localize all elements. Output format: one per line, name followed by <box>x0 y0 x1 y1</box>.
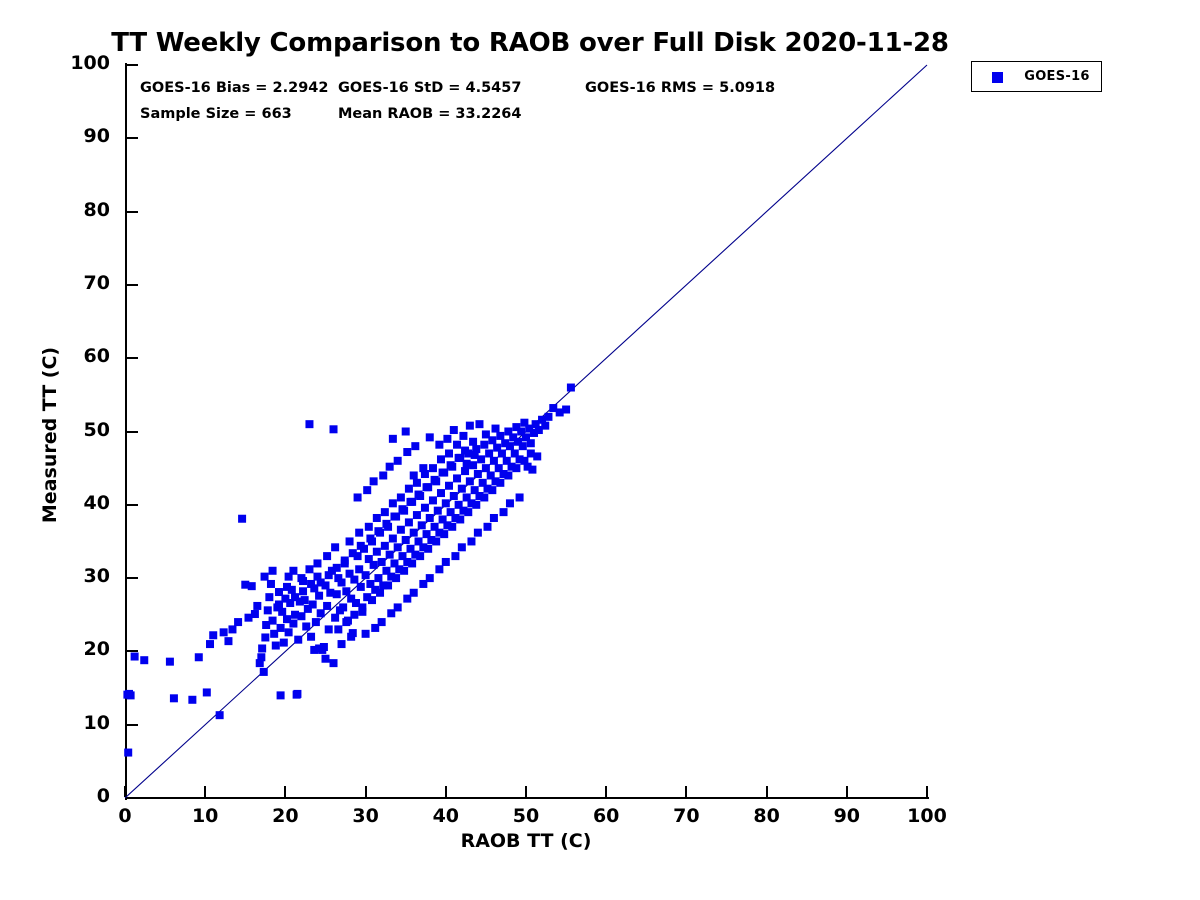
y-axis-tick-label: 80 <box>50 199 110 221</box>
x-axis-tick-label: 20 <box>255 805 315 827</box>
scatter-point <box>188 696 196 704</box>
scatter-point <box>490 514 498 522</box>
scatter-point <box>459 432 467 440</box>
scatter-point <box>293 690 301 698</box>
scatter-point <box>381 508 389 516</box>
scatter-point <box>334 625 342 633</box>
scatter-point <box>439 469 447 477</box>
x-axis-tick-label: 10 <box>175 805 235 827</box>
scatter-point <box>392 574 400 582</box>
scatter-point <box>527 449 535 457</box>
scatter-point <box>426 514 434 522</box>
scatter-point <box>421 504 429 512</box>
scatter-point <box>490 457 498 465</box>
scatter-point <box>315 644 323 652</box>
scatter-point <box>464 508 472 516</box>
scatter-point <box>166 658 174 666</box>
scatter-point <box>504 471 512 479</box>
scatter-point <box>289 567 297 575</box>
scatter-point <box>416 552 424 560</box>
scatter-point <box>394 543 402 551</box>
scatter-point <box>307 633 315 641</box>
scatter-point <box>347 633 355 641</box>
scatter-point <box>307 580 315 588</box>
scatter-point <box>480 441 488 449</box>
scatter-point <box>362 571 370 579</box>
x-axis-tick-label: 30 <box>336 805 396 827</box>
scatter-point <box>496 432 504 440</box>
chart-figure: TT Weekly Comparison to RAOB over Full D… <box>0 0 1200 900</box>
scatter-point <box>466 477 474 485</box>
scatter-point <box>140 656 148 664</box>
scatter-point <box>413 511 421 519</box>
scatter-point <box>331 614 339 622</box>
scatter-point <box>480 493 488 501</box>
scatter-point <box>492 425 500 433</box>
scatter-point <box>342 587 350 595</box>
scatter-point <box>440 530 448 538</box>
scatter-point <box>541 422 549 430</box>
scatter-point <box>413 479 421 487</box>
scatter-point <box>267 580 275 588</box>
scatter-point <box>520 457 528 465</box>
scatter-point <box>131 653 139 661</box>
scatter-point <box>358 603 366 611</box>
scatter-point <box>403 448 411 456</box>
scatter-point <box>283 583 291 591</box>
scatter-point <box>407 498 415 506</box>
scatter-point <box>386 463 394 471</box>
scatter-point <box>234 618 242 626</box>
scatter-point <box>402 428 410 436</box>
scatter-point <box>496 479 504 487</box>
scatter-point <box>386 551 394 559</box>
x-axis-tick-label: 90 <box>817 805 877 827</box>
scatter-point <box>203 688 211 696</box>
scatter-point <box>338 579 346 587</box>
scatter-point <box>429 464 437 472</box>
scatter-point <box>261 573 269 581</box>
scatter-point <box>269 617 277 625</box>
scatter-point <box>297 574 305 582</box>
scatter-point <box>373 514 381 522</box>
scatter-point <box>389 499 397 507</box>
scatter-point <box>442 499 450 507</box>
scatter-point <box>333 590 341 598</box>
scatter-point <box>474 470 482 478</box>
scatter-point <box>451 552 459 560</box>
scatter-point <box>445 482 453 490</box>
scatter-point <box>346 537 354 545</box>
legend-marker-goes-16 <box>992 72 1003 83</box>
scatter-point <box>432 537 440 545</box>
scatter-point <box>275 600 283 608</box>
scatter-point <box>472 501 480 509</box>
scatter-point <box>398 505 406 513</box>
scatter-plot-canvas <box>125 65 927 798</box>
scatter-point <box>394 457 402 465</box>
scatter-point <box>453 474 461 482</box>
scatter-point <box>331 543 339 551</box>
legend-box: GOES-16 <box>971 61 1102 92</box>
scatter-point <box>277 691 285 699</box>
scatter-point <box>374 527 382 535</box>
scatter-point <box>323 552 331 560</box>
scatter-point <box>206 640 214 648</box>
scatter-point <box>366 535 374 543</box>
scatter-point <box>426 574 434 582</box>
scatter-point <box>415 491 423 499</box>
scatter-point <box>170 694 178 702</box>
scatter-point <box>315 592 323 600</box>
scatter-point <box>458 485 466 493</box>
scatter-point <box>445 449 453 457</box>
scatter-point <box>305 565 313 573</box>
scatter-point <box>426 433 434 441</box>
scatter-point <box>423 483 431 491</box>
x-axis-tick-label: 50 <box>496 805 556 827</box>
scatter-point <box>265 593 273 601</box>
y-axis-label: Measured TT (C) <box>39 235 61 635</box>
scatter-point <box>567 384 575 392</box>
scatter-point <box>437 489 445 497</box>
scatter-point <box>301 596 309 604</box>
scatter-point <box>463 460 471 468</box>
scatter-point <box>482 464 490 472</box>
scatter-point <box>471 451 479 459</box>
scatter-point <box>397 526 405 534</box>
scatter-point <box>374 574 382 582</box>
scatter-point <box>261 633 269 641</box>
scatter-point <box>280 639 288 647</box>
y-axis-tick-label: 20 <box>50 638 110 660</box>
scatter-point <box>376 589 384 597</box>
scatter-point <box>365 523 373 531</box>
scatter-point <box>418 521 426 529</box>
scatter-point <box>257 653 265 661</box>
scatter-point <box>299 587 307 595</box>
scatter-point <box>389 435 397 443</box>
scatter-point <box>450 492 458 500</box>
scatter-point <box>285 628 293 636</box>
scatter-point <box>469 438 477 446</box>
scatter-point <box>397 493 405 501</box>
scatter-point <box>264 606 272 614</box>
scatter-point <box>519 442 527 450</box>
x-axis-tick-label: 60 <box>576 805 636 827</box>
scatter-point <box>322 655 330 663</box>
scatter-point <box>544 413 552 421</box>
scatter-point <box>297 612 305 620</box>
scatter-point <box>485 449 493 457</box>
scatter-point <box>238 515 246 523</box>
scatter-point <box>488 486 496 494</box>
scatter-point <box>411 442 419 450</box>
scatter-point <box>405 518 413 526</box>
scatter-point <box>317 579 325 587</box>
scatter-point <box>381 542 389 550</box>
scatter-point <box>461 467 469 475</box>
scatter-point <box>277 624 285 632</box>
scatter-point <box>421 470 429 478</box>
scatter-point <box>467 537 475 545</box>
legend-label-goes-16: GOES-16 <box>1017 69 1097 84</box>
scatter-point <box>474 529 482 537</box>
scatter-point <box>373 548 381 556</box>
scatter-point <box>458 543 466 551</box>
scatter-point <box>410 529 418 537</box>
scatter-point <box>424 545 432 553</box>
scatter-point <box>402 536 410 544</box>
scatter-point <box>370 561 378 569</box>
scatter-point <box>475 420 483 428</box>
scatter-point <box>350 576 358 584</box>
scatter-point <box>124 749 132 757</box>
scatter-point <box>330 659 338 667</box>
scatter-point <box>330 425 338 433</box>
scatter-point <box>294 636 302 644</box>
scatter-point <box>516 493 524 501</box>
scatter-point <box>512 464 520 472</box>
scatter-point <box>362 630 370 638</box>
scatter-point <box>389 535 397 543</box>
scatter-point <box>447 461 455 469</box>
scatter-point <box>209 631 217 639</box>
scatter-point <box>220 628 228 636</box>
scatter-point <box>528 466 536 474</box>
scatter-point <box>269 567 277 575</box>
scatter-points-group <box>123 384 575 757</box>
scatter-point <box>363 486 371 494</box>
scatter-point <box>562 406 570 414</box>
scatter-point <box>370 477 378 485</box>
scatter-point <box>378 618 386 626</box>
scatter-point <box>450 426 458 434</box>
scatter-point <box>341 557 349 565</box>
scatter-point <box>461 447 469 455</box>
scatter-point <box>228 625 236 633</box>
scatter-point <box>309 600 317 608</box>
scatter-point <box>410 589 418 597</box>
x-axis-tick-label: 0 <box>95 805 155 827</box>
x-axis-tick-label: 100 <box>897 805 957 827</box>
scatter-point <box>368 596 376 604</box>
scatter-point <box>506 499 514 507</box>
scatter-point <box>258 644 266 652</box>
scatter-point <box>253 602 261 610</box>
scatter-point <box>357 542 365 550</box>
page-title: TT Weekly Comparison to RAOB over Full D… <box>0 28 1060 58</box>
scatter-point <box>431 476 439 484</box>
scatter-point <box>400 567 408 575</box>
scatter-point <box>333 564 341 572</box>
scatter-point <box>291 593 299 601</box>
scatter-point <box>384 581 392 589</box>
scatter-point <box>443 435 451 443</box>
scatter-point <box>338 640 346 648</box>
y-axis-tick-label: 100 <box>50 52 110 74</box>
scatter-point <box>408 559 416 567</box>
scatter-point <box>342 618 350 626</box>
scatter-point <box>339 603 347 611</box>
scatter-point <box>378 558 386 566</box>
scatter-point <box>466 422 474 430</box>
scatter-point <box>289 620 297 628</box>
scatter-point <box>390 513 398 521</box>
scatter-point <box>500 508 508 516</box>
scatter-point <box>127 691 135 699</box>
scatter-point <box>484 523 492 531</box>
scatter-point <box>527 439 535 447</box>
scatter-point <box>325 625 333 633</box>
scatter-point <box>453 441 461 449</box>
scatter-point <box>350 611 358 619</box>
scatter-point <box>382 520 390 528</box>
scatter-point <box>313 559 321 567</box>
scatter-point <box>435 441 443 449</box>
scatter-point <box>323 602 331 610</box>
scatter-point <box>355 529 363 537</box>
y-axis-tick-label: 10 <box>50 712 110 734</box>
y-axis-tick-label: 0 <box>50 785 110 807</box>
scatter-point <box>506 442 514 450</box>
scatter-point <box>272 642 280 650</box>
scatter-point <box>317 609 325 617</box>
x-axis-tick-label: 40 <box>416 805 476 827</box>
scatter-point <box>482 430 490 438</box>
scatter-point <box>405 485 413 493</box>
scatter-point <box>498 449 506 457</box>
scatter-point <box>251 610 259 618</box>
scatter-point <box>354 493 362 501</box>
scatter-point <box>195 653 203 661</box>
scatter-point <box>325 571 333 579</box>
scatter-point <box>349 549 357 557</box>
scatter-point <box>429 496 437 504</box>
scatter-point <box>305 420 313 428</box>
scatter-point <box>455 454 463 462</box>
scatter-point <box>442 558 450 566</box>
scatter-point <box>379 471 387 479</box>
scatter-point <box>216 711 224 719</box>
scatter-point <box>456 515 464 523</box>
x-axis-label: RAOB TT (C) <box>326 830 726 852</box>
scatter-point <box>224 637 232 645</box>
scatter-point <box>410 471 418 479</box>
scatter-point <box>260 668 268 676</box>
scatter-point <box>312 618 320 626</box>
scatter-point <box>435 565 443 573</box>
x-axis-tick-label: 70 <box>656 805 716 827</box>
y-axis-tick-label: 90 <box>50 125 110 147</box>
scatter-point <box>394 603 402 611</box>
x-axis-tick-label: 80 <box>737 805 797 827</box>
scatter-point <box>448 523 456 531</box>
scatter-point <box>437 455 445 463</box>
scatter-point <box>248 582 256 590</box>
scatter-point <box>434 507 442 515</box>
scatter-point <box>357 583 365 591</box>
scatter-point <box>302 622 310 630</box>
scatter-point <box>278 608 286 616</box>
